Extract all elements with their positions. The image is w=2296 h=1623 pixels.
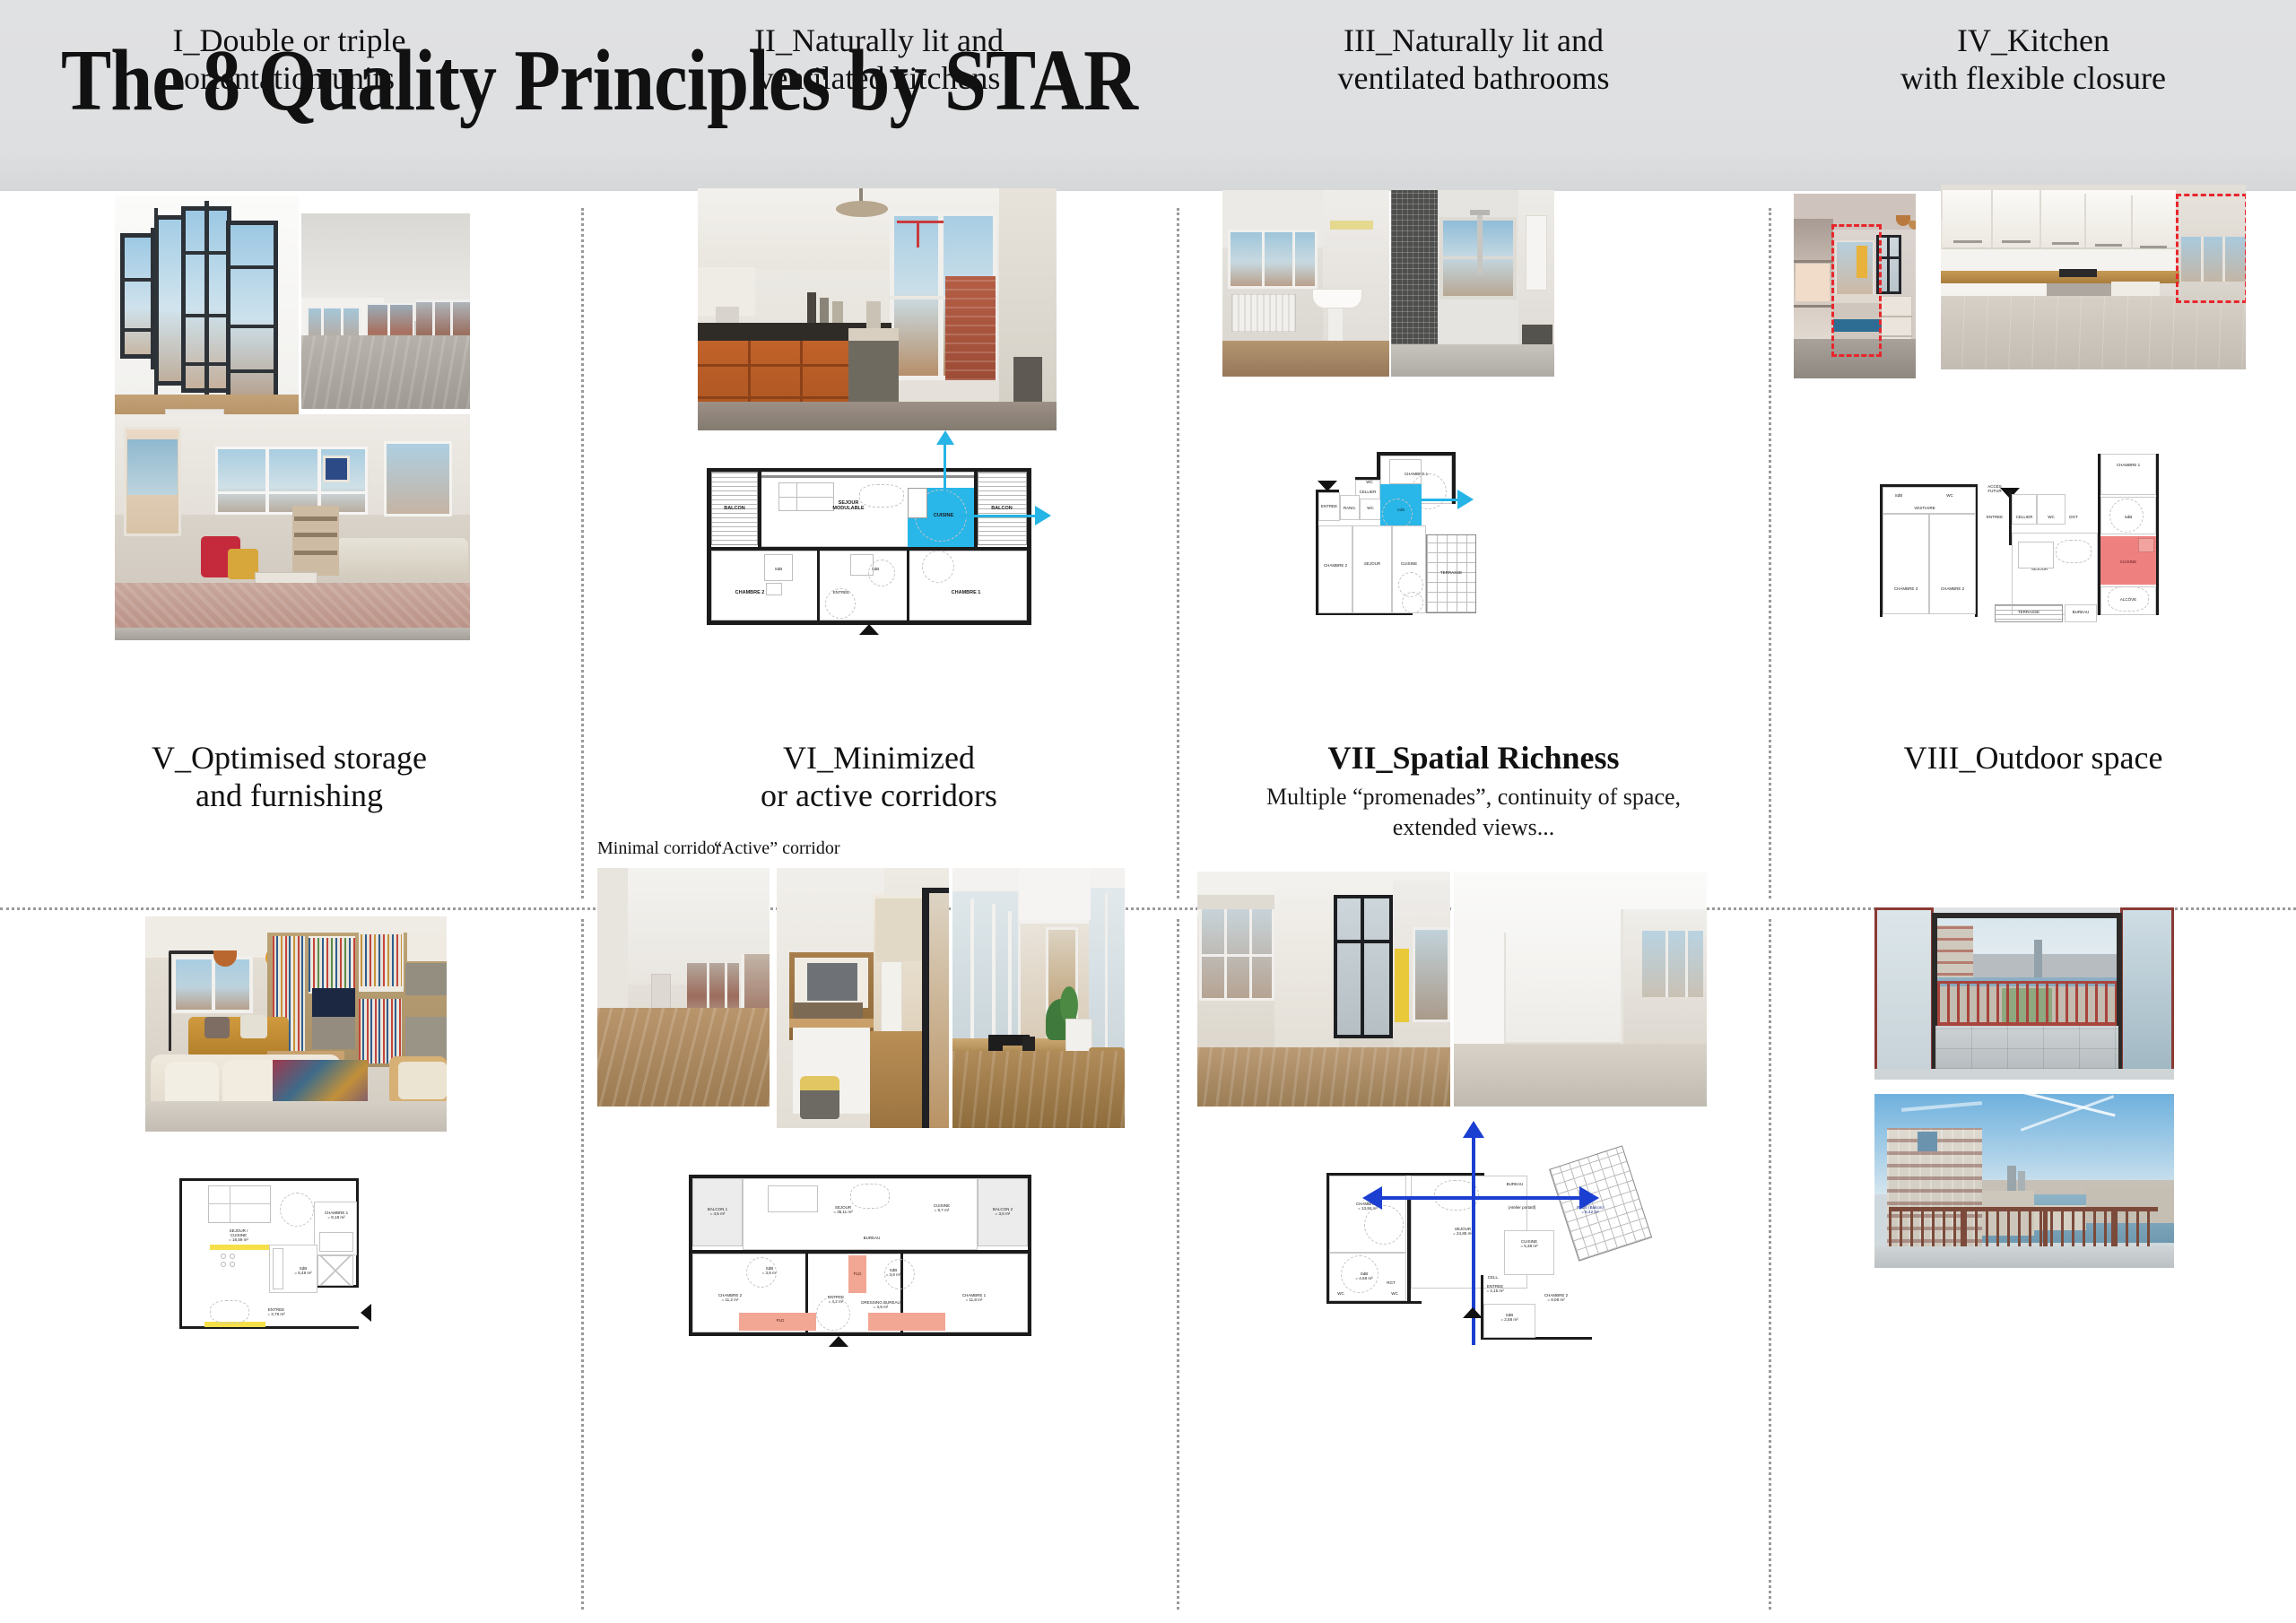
principle-cell-I: I_Double or triple orientation units (0, 0, 578, 708)
principle-title-I: I_Double or triple orientation units (0, 0, 578, 98)
plan-entry-marker-vi (829, 1336, 848, 1347)
plan-arrow-right-line (960, 515, 1037, 517)
photo-minimal-corridor (597, 868, 770, 1107)
red-dashed-outline-kitchen-1 (1831, 224, 1882, 357)
plan-arrow-bathroom-line (1420, 499, 1459, 501)
principle-title-VI: VI_Minimized or active corridors (581, 717, 1177, 815)
plan-entry-marker (859, 624, 879, 635)
principle-subtitle-VII: Multiple “promenades”, continuity of spa… (1179, 782, 1768, 843)
photo-balcony-canal-view (1874, 1094, 2174, 1268)
plan-entry-marker-v (361, 1304, 371, 1322)
plan-arrow-left-head-vii (1362, 1186, 1382, 1210)
principle-title-I-line2: orientation units (0, 59, 578, 97)
photo-living-room-bookshelf (145, 916, 447, 1132)
principle-title-V: V_Optimised storage and furnishing (0, 717, 578, 815)
principle-title-III: III_Naturally lit and ventilated bathroo… (1179, 0, 1768, 98)
principle-cell-V: V_Optimised storage and furnishing (0, 717, 578, 1432)
principle-subtitle-VII-line2: extended views... (1179, 812, 1768, 843)
principle-title-II: II_Naturally lit and ventilated kitchens (581, 0, 1177, 98)
poster-page: The 8 Quality Principles by STAR I_Doubl… (0, 0, 2296, 1623)
principle-title-VII-line1: VII_Spatial Richness (1179, 739, 1768, 777)
principle-subtitle-VII-line1: Multiple “promenades”, continuity of spa… (1179, 782, 1768, 812)
principle-title-VI-line1: VI_Minimized (581, 739, 1177, 777)
red-dashed-outline-kitchen-2 (2176, 194, 2246, 303)
principle-title-VIII-line1: VIII_Outdoor space (1770, 739, 2296, 777)
plan-entry-marker-vii (1463, 1307, 1483, 1318)
principle-cell-III: III_Naturally lit and ventilated bathroo… (1179, 0, 1768, 708)
photo-open-kitchen (698, 188, 1057, 430)
plan-room-sdb-window (1380, 484, 1422, 497)
caption-active-corridor: “Active” corridor (714, 838, 839, 859)
principle-title-VI-line2: or active corridors (581, 777, 1177, 814)
principle-title-II-line2: ventilated kitchens (581, 59, 1177, 97)
plan-arrow-right-head (1035, 506, 1051, 525)
principle-title-VII: VII_Spatial Richness (1179, 717, 1768, 777)
principle-title-IV-line1: IV_Kitchen (1770, 22, 2296, 59)
floorplan-studio-storage: SEJOUR /CUISINE= 18,59 m² CHAMBRE 1= 8,1… (170, 1173, 371, 1334)
photo-active-corridor-desk (777, 868, 949, 1128)
photo-empty-living-room (301, 213, 470, 409)
plan-arrow-up-line (944, 441, 946, 493)
plan-arrow-horizontal (1380, 1196, 1583, 1200)
photo-living-room-glazed-partition (1197, 872, 1450, 1107)
principle-title-V-line1: V_Optimised storage (0, 739, 578, 777)
principle-cell-VI: VI_Minimized or active corridors Minimal… (581, 717, 1177, 1432)
floorplan-kitchen-highlight: BALCON BALCON SEJOURMODULABLE CUISINE CH… (700, 457, 1039, 633)
plan-storage-highlight-1 (210, 1245, 269, 1250)
plan-arrow-up-head (936, 430, 954, 445)
floorplan-bathroom-highlight: CHAMBRE 1 CELLIER WC ENTREE RANG. WC SdB (1303, 448, 1483, 619)
photo-active-corridor-dining (952, 868, 1125, 1128)
photo-balcony-open-doors (1874, 907, 2174, 1080)
photo-corner-room-windows (115, 195, 299, 436)
plan-arrow-right-head-vii (1579, 1186, 1599, 1210)
principle-title-III-line2: ventilated bathrooms (1179, 59, 1768, 97)
photo-bathroom-with-window (1222, 190, 1389, 377)
plan-angled-balcony (1549, 1145, 1652, 1261)
floorplan-corridors-storage: BALCON 1= 4,5 m² BALCON 2= 3,6 m² SEJOUR… (680, 1166, 1039, 1345)
photo-white-kitchen-open (1941, 185, 2246, 369)
principle-title-V-line2: and furnishing (0, 777, 578, 814)
principle-cell-VII: VII_Spatial Richness Multiple “promenade… (1179, 717, 1768, 1432)
principle-title-VIII: VIII_Outdoor space (1770, 717, 2296, 777)
caption-minimal-corridor: Minimal corridor (597, 838, 721, 859)
principle-cell-IV: IV_Kitchen with flexible closure (1770, 0, 2296, 708)
photo-furnished-living-room (115, 414, 470, 640)
plan-arrow-bathroom-head (1457, 490, 1474, 509)
principle-cell-II: II_Naturally lit and ventilated kitchens (581, 0, 1177, 708)
plan-storage-salmon-3 (868, 1313, 945, 1331)
principle-cell-VIII: VIII_Outdoor space (1770, 717, 2296, 1432)
principle-title-IV-line2: with flexible closure (1770, 59, 2296, 97)
principle-title-I-line1: I_Double or triple (0, 22, 578, 59)
floorplan-spatial-richness: CHAMBRE 1= 13,84 m² SdB= 4,68 m² WC WC R… (1294, 1150, 1635, 1350)
photo-shower-room-with-window (1391, 190, 1554, 377)
photo-kitchen-glazed-partition (1794, 194, 1916, 378)
principle-title-IV: IV_Kitchen with flexible closure (1770, 0, 2296, 98)
plan-north-marker (1318, 481, 1337, 491)
principle-title-III-line1: III_Naturally lit and (1179, 22, 1768, 59)
photo-white-room-opening (1454, 872, 1707, 1107)
plan-arrow-up-head-vii (1463, 1121, 1484, 1138)
principle-title-II-line1: II_Naturally lit and (581, 22, 1177, 59)
floorplan-kitchen-red-highlight: SdB WC VESTIAIRE CHAMBRE 3 CHAMBRE 2 ENT… (1869, 447, 2192, 622)
